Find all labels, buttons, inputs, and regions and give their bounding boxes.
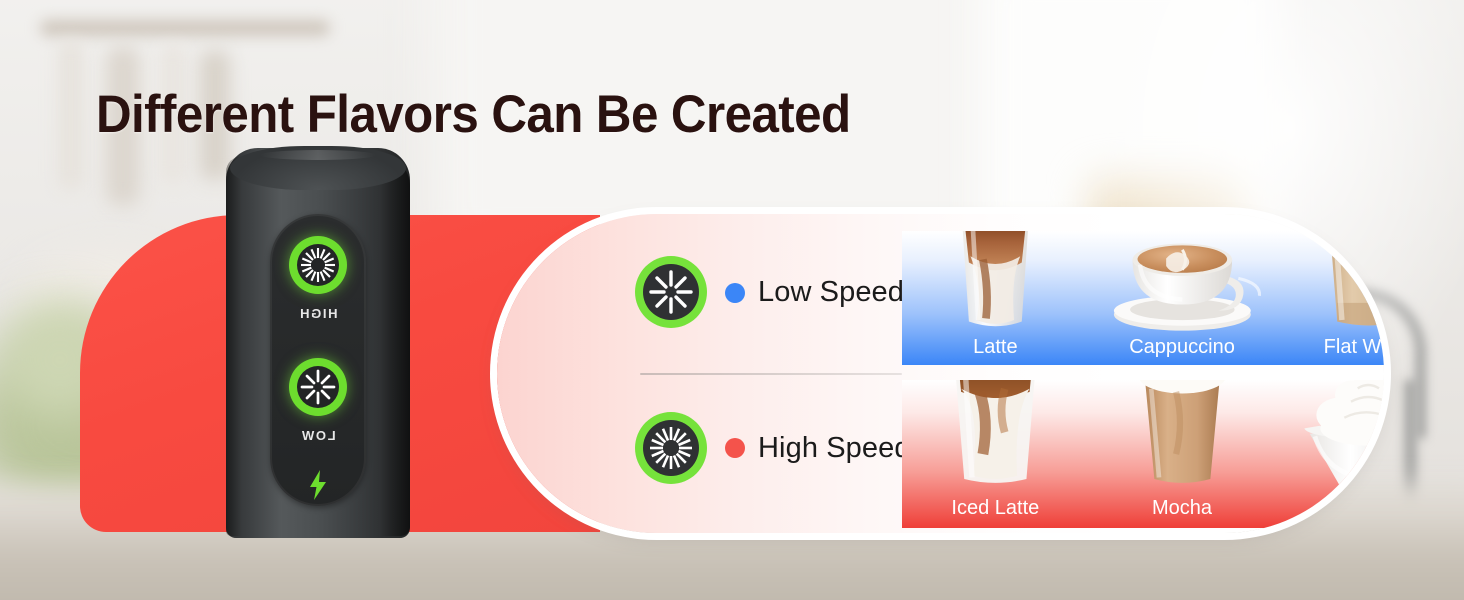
flavors-card: Low Speed: [497, 214, 1384, 533]
high-speed-label: High Speed: [758, 432, 919, 465]
device-top-sheen [260, 150, 376, 160]
low-speed-label-group: Low Speed: [725, 276, 912, 309]
lightning-bolt-icon [307, 470, 329, 500]
low-speed-label: Low Speed: [758, 276, 912, 309]
device-top-cap [230, 146, 406, 190]
iced-latte-glass-icon [902, 231, 1089, 337]
drink-caption: Iced Latte [951, 498, 1039, 528]
milk-frother-device: HIGH LOW [226, 148, 410, 538]
drink-item: Latte [902, 231, 1089, 365]
flat-white-cup-icon [1275, 231, 1384, 337]
drink-caption: Mocha [1152, 498, 1212, 528]
drink-caption: Cream [1339, 498, 1384, 528]
asterisk-8-spoke-icon [635, 256, 707, 328]
device-high-button[interactable] [289, 236, 347, 294]
drink-item: Cream [1275, 380, 1384, 528]
speed-row-low: Low Speed: [497, 214, 1384, 374]
device-control-panel: HIGH LOW [270, 214, 366, 506]
drink-caption: Cappuccino [1129, 337, 1235, 365]
drink-item: Flat White [1275, 231, 1384, 365]
low-speed-drinks-panel: Latte [902, 231, 1384, 365]
device-high-label: HIGH [270, 306, 366, 321]
asterisk-8-spoke-icon [297, 366, 339, 408]
drink-caption: Latte [973, 337, 1017, 365]
device-low-button[interactable] [289, 358, 347, 416]
sunburst-16-spoke-icon [297, 244, 339, 286]
drink-item: Iced Latte [902, 380, 1089, 528]
device-right-shading [380, 156, 410, 536]
device-low-label: LOW [270, 428, 366, 443]
status-dot-red [725, 438, 745, 458]
cappuccino-cup-icon [1089, 231, 1276, 337]
whipped-cream-bowl-icon [1275, 380, 1384, 498]
utensil-rail-blur [40, 20, 330, 36]
mocha-whipped-cup-icon [1089, 380, 1276, 498]
sunburst-16-spoke-icon [635, 412, 707, 484]
hanging-utensil-icon [58, 40, 84, 190]
drink-item: Cappuccino [1089, 231, 1276, 365]
status-dot-blue [725, 283, 745, 303]
iced-latte-layered-cup-icon [902, 380, 1089, 498]
device-left-shading [226, 156, 242, 536]
drink-caption: Flat White [1324, 337, 1384, 365]
speed-row-high: High Speed: [497, 374, 1384, 534]
high-speed-drinks-panel: Iced Latte [902, 380, 1384, 528]
drink-item: Mocha [1089, 380, 1276, 528]
page-title: Different Flavors Can Be Created [96, 84, 851, 145]
high-speed-label-group: High Speed: [725, 432, 919, 465]
